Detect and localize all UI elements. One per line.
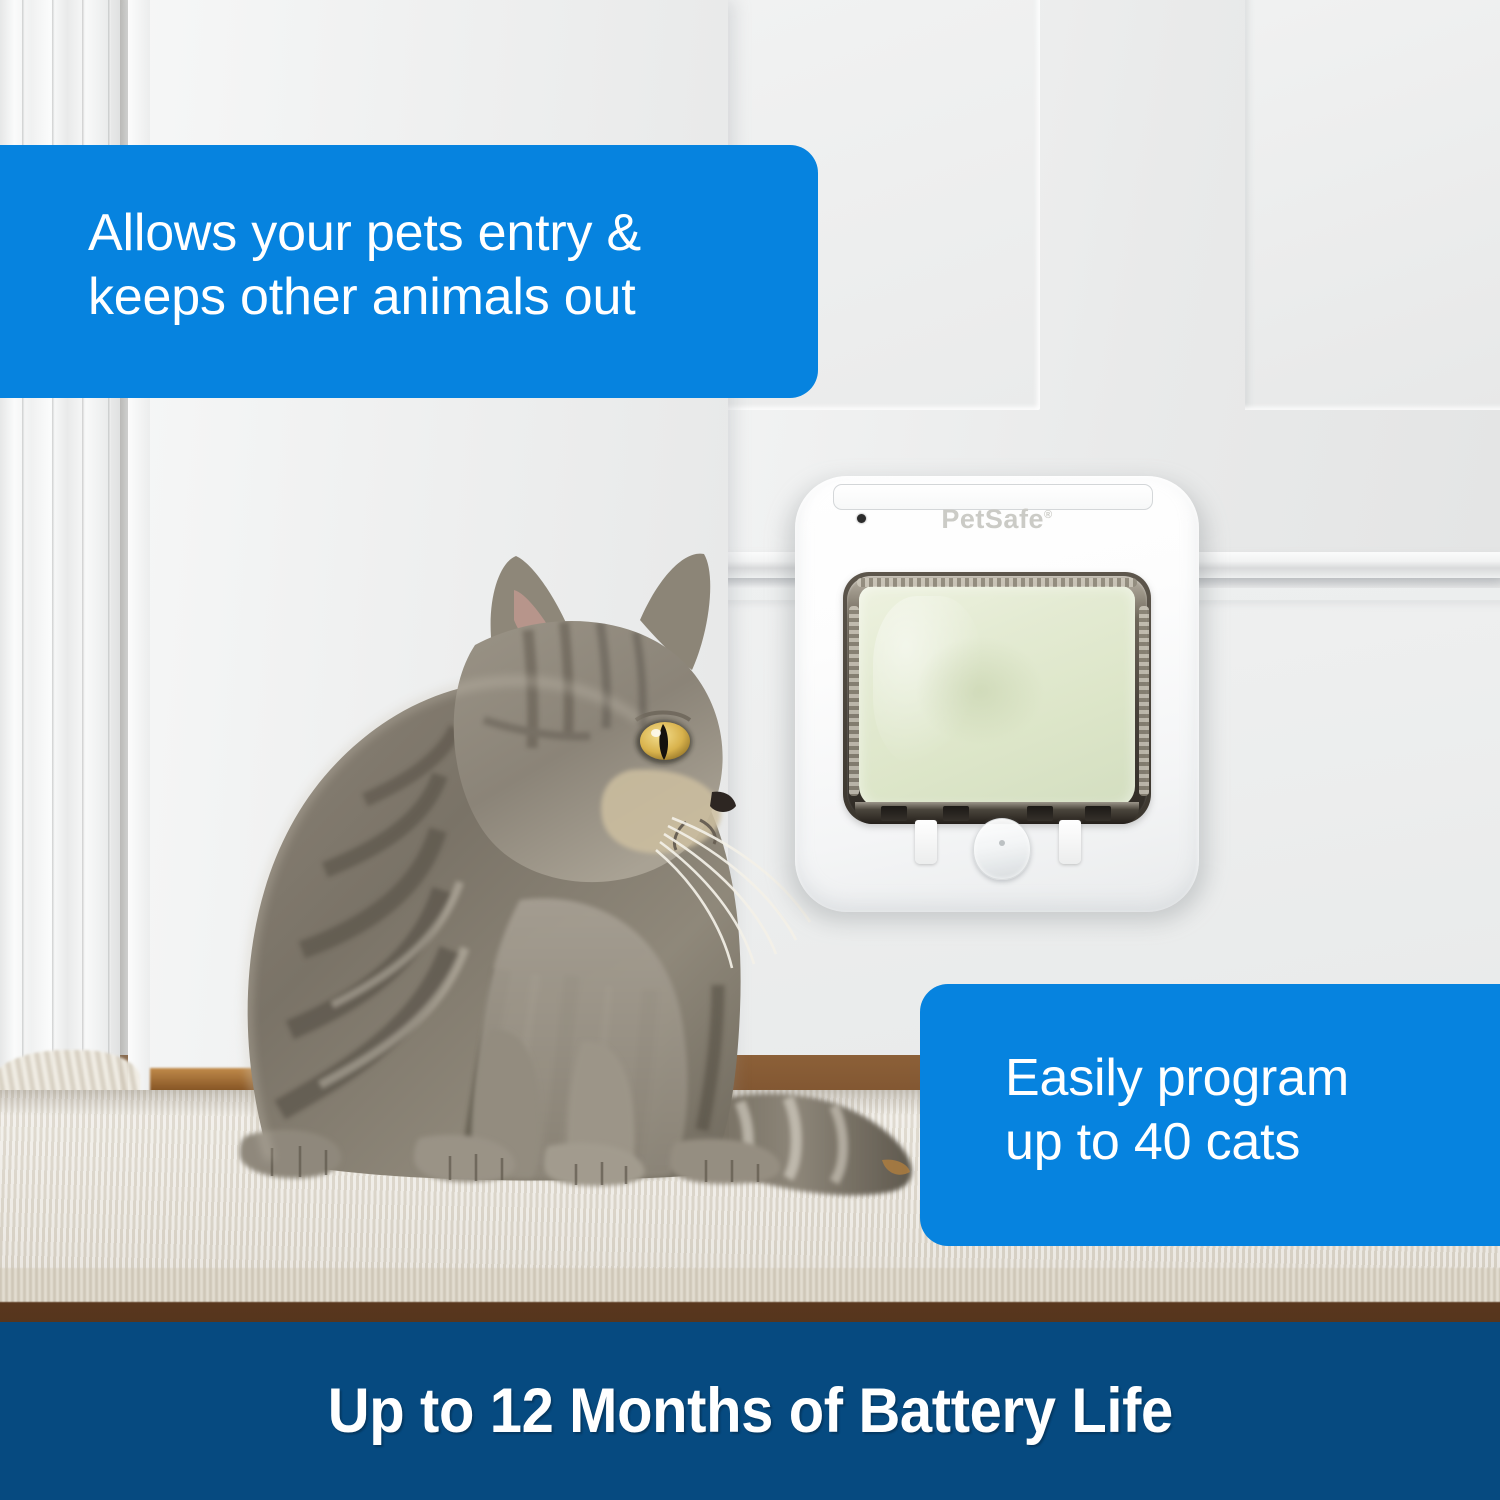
banner-headline: Up to 12 Months of Battery Life [327,1375,1172,1447]
callout-entry-text: Allows your pets entry & keeps other ani… [88,201,778,329]
magnet-catch-tab-right [1059,820,1081,864]
petsafe-brand-logo: PetSafe® [795,504,1199,535]
cat-nose [710,792,736,812]
feature-callout-entry: Allows your pets entry & keeps other ani… [0,145,818,398]
flap-track-right [1139,606,1149,796]
registered-mark: ® [1044,509,1053,521]
flap-blotch [915,636,1045,746]
rug-fringe-edge [0,1268,1500,1302]
flap-track-top [857,578,1137,587]
magnet-strip-left [881,806,907,821]
magnet-catch-tab-left [915,820,937,864]
callout-program-text: Easily program up to 40 cats [1005,1046,1500,1174]
magnet-strip-right [1085,806,1111,821]
locking-knob[interactable] [973,818,1031,880]
petsafe-cat-flap-product: PetSafe® [795,476,1199,912]
callout-entry-line-1: Allows your pets entry & [88,201,778,265]
feature-callout-program: Easily program up to 40 cats [920,984,1500,1246]
product-feature-image: PetSafe® Allows your pets entry & keeps … [0,0,1500,1500]
magnet-strip-center-left [943,806,969,821]
callout-program-line-1: Easily program [1005,1046,1500,1110]
wall-panel-upper-right [1245,0,1500,410]
knob-center-dot [999,840,1005,846]
callout-entry-line-2: keeps other animals out [88,265,778,329]
magnet-strip-center-right [1027,806,1053,821]
flap-track-left [849,606,859,796]
battery-life-banner: Up to 12 Months of Battery Life [0,1322,1500,1500]
brand-name: PetSafe [941,504,1044,534]
callout-program-line-2: up to 40 cats [1005,1110,1500,1174]
